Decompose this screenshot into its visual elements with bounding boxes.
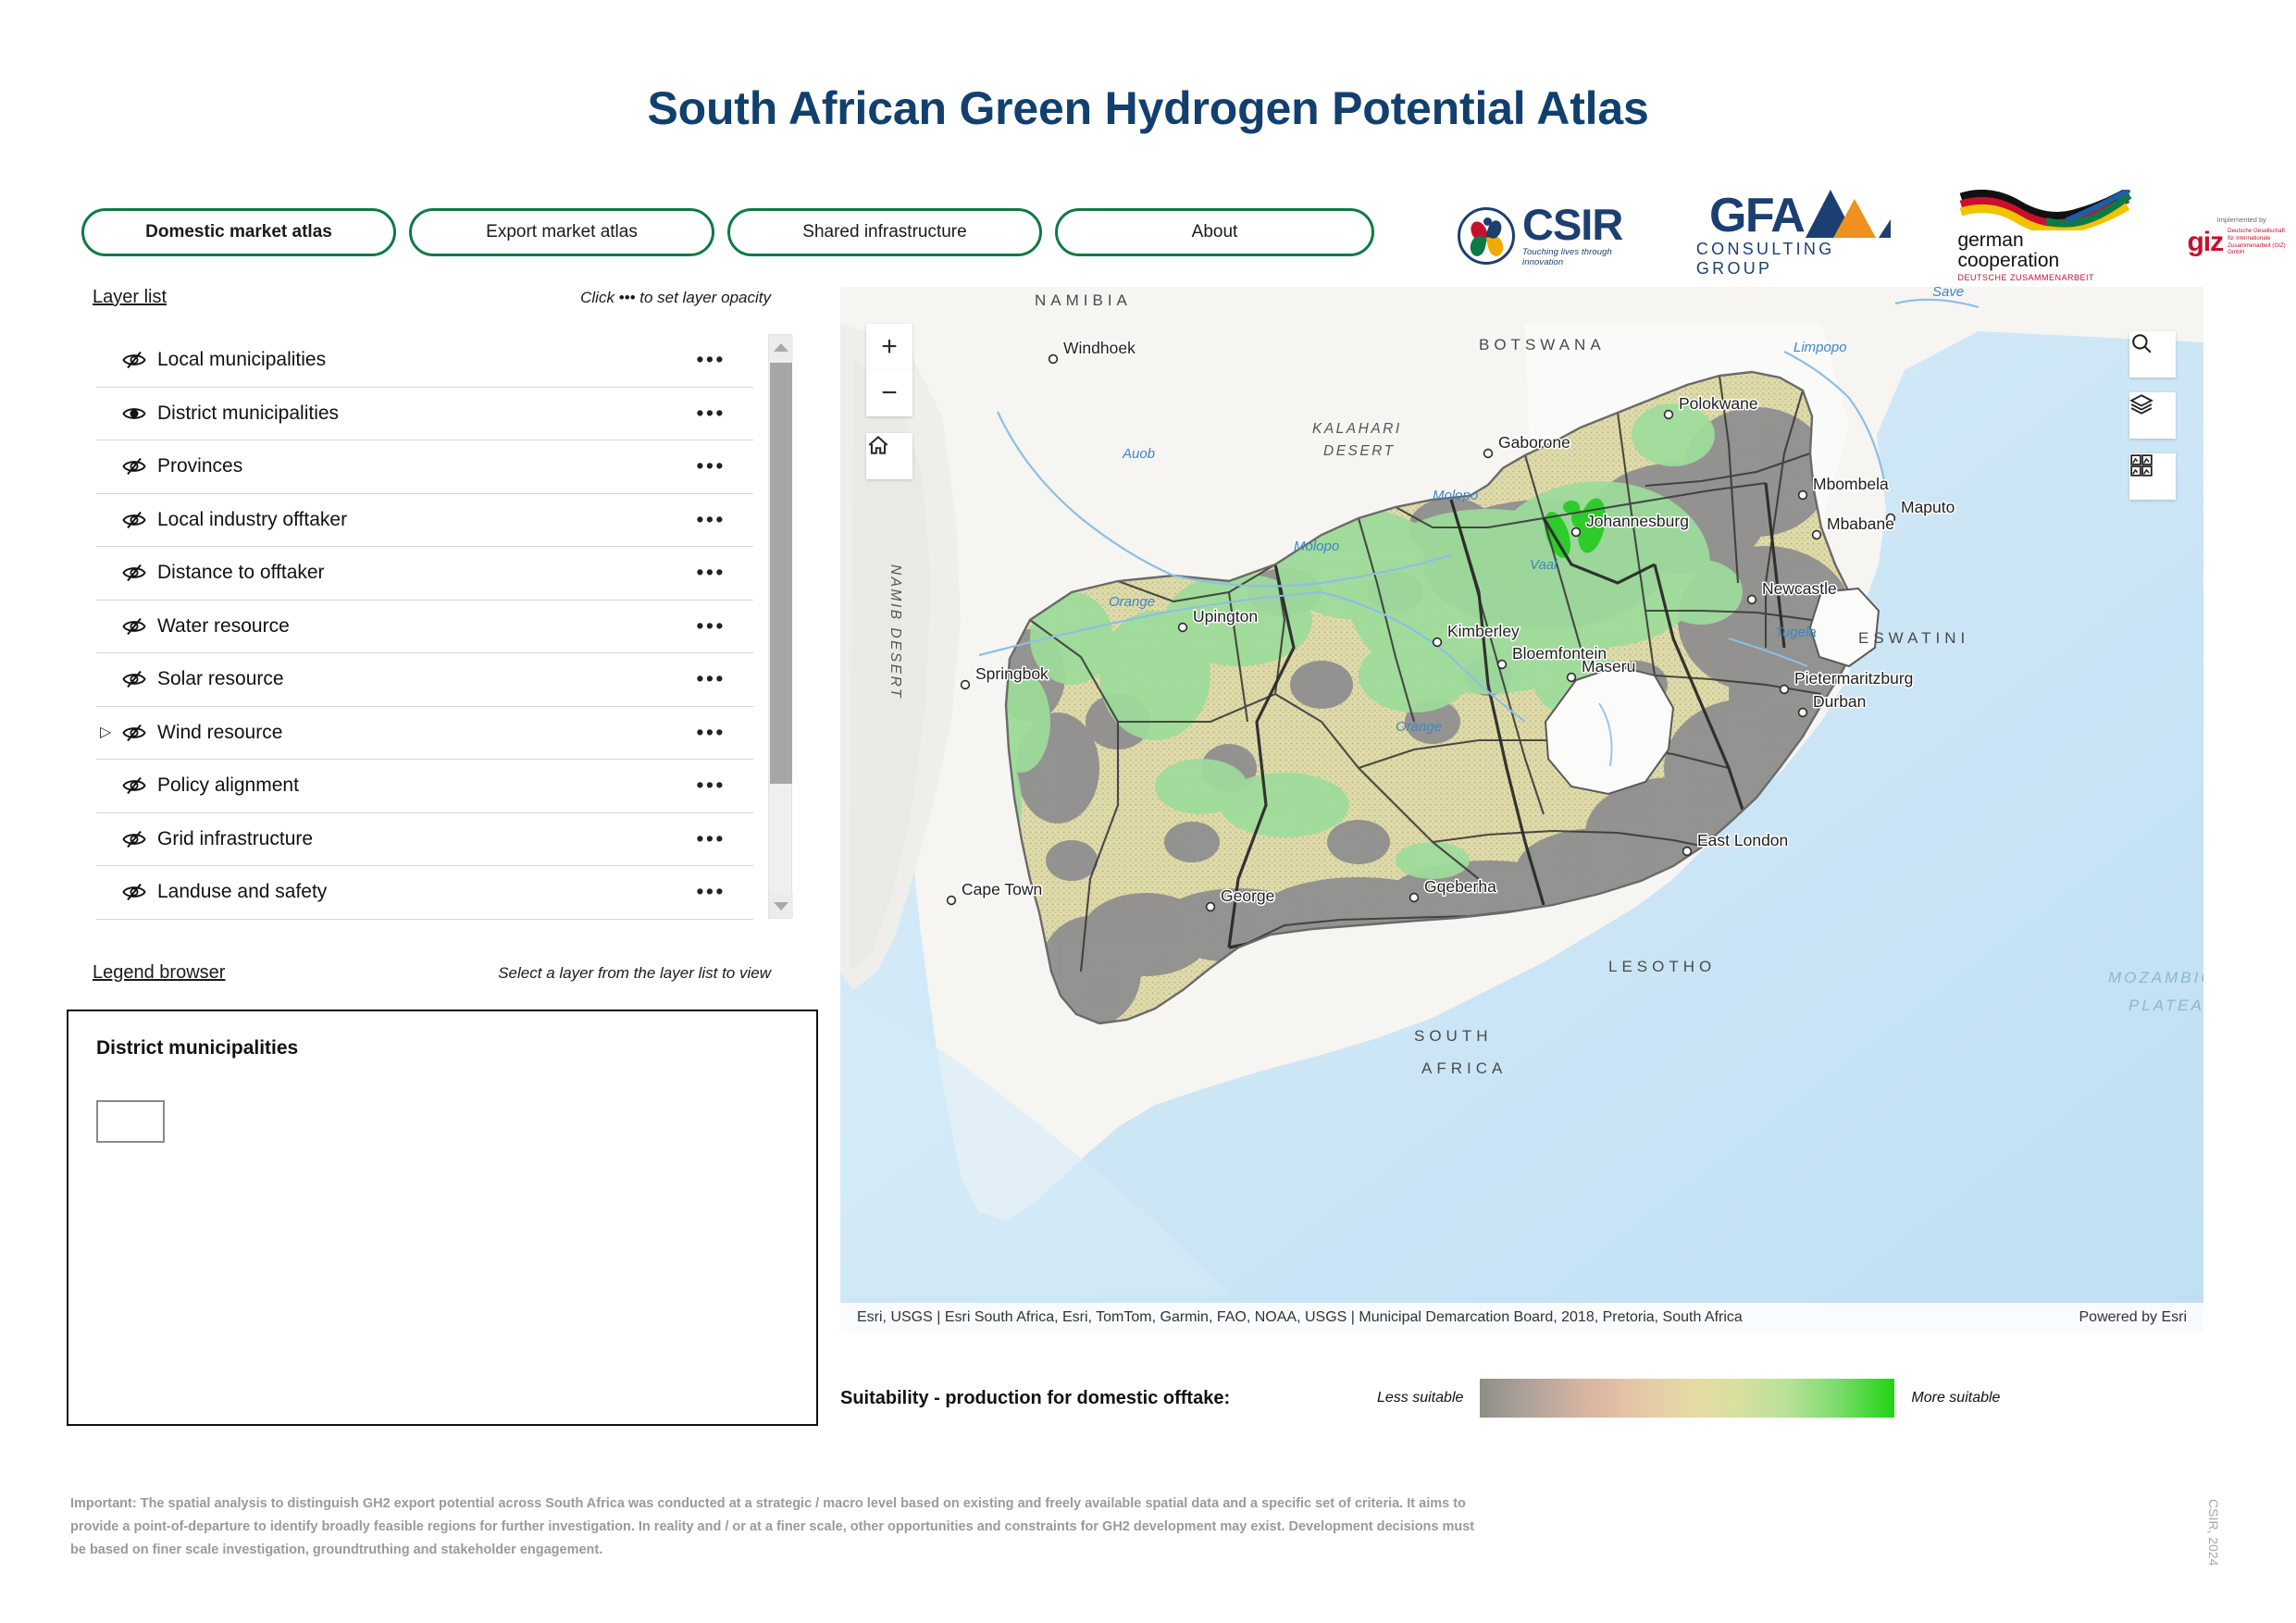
eye-hidden-icon[interactable] <box>122 457 146 476</box>
tab-label: About <box>1192 222 1238 242</box>
city-marker-icon <box>1484 450 1493 458</box>
city-marker-icon <box>1799 491 1807 500</box>
river-label: Save <box>1932 287 1964 300</box>
legend-browser-title: Legend browser <box>93 962 225 984</box>
giz-implemented-by: Implemented by <box>2217 216 2266 224</box>
layer-options-button[interactable]: ••• <box>696 886 726 898</box>
zoom-in-button[interactable]: + <box>866 324 912 370</box>
layer-list-title: Layer list <box>93 287 167 308</box>
city-marker-icon <box>1433 638 1442 647</box>
map-attribution-text: Esri, USGS | Esri South Africa, Esri, To… <box>857 1309 1743 1326</box>
page-title: South African Green Hydrogen Potential A… <box>0 81 2296 135</box>
layer-visibility-toggle[interactable] <box>118 776 150 795</box>
city-marker-icon <box>1781 686 1789 694</box>
left-control-panel: Layer list Click ••• to set layer opacit… <box>0 287 838 1426</box>
layer-options-button[interactable]: ••• <box>696 566 726 579</box>
layer-options-button[interactable]: ••• <box>696 620 726 633</box>
country-label: LESOTHO <box>1608 958 1716 975</box>
map-layers-button[interactable] <box>2129 392 2176 439</box>
zoom-out-button[interactable]: − <box>866 370 912 416</box>
city-label: Gaborone <box>1498 433 1570 452</box>
city-label: Mbabane <box>1827 514 1894 533</box>
country-label: NAMIBIA <box>1035 291 1132 309</box>
powered-by-esri: Powered by Esri <box>2079 1309 2188 1326</box>
city-marker-icon <box>948 897 956 905</box>
basemap-gallery-button[interactable] <box>2129 453 2176 500</box>
layer-options-button[interactable]: ••• <box>696 779 726 792</box>
suitability-more-label: More suitable <box>1911 1390 2000 1406</box>
layer-visibility-toggle[interactable] <box>118 883 150 901</box>
layer-label-distance-to-offtaker: Distance to offtaker <box>157 562 696 584</box>
city-marker-icon <box>1498 661 1507 669</box>
layer-rows: Local municipalities•••District municipa… <box>96 334 753 920</box>
tab-shared-infrastructure[interactable]: Shared infrastructure <box>727 208 1042 256</box>
river-label: Molopo <box>1433 488 1478 503</box>
german-cooperation-line3: DEUTSCHE ZUSAMMENARBEIT <box>1957 273 2094 282</box>
desert-label: DESERT <box>1323 443 1396 459</box>
german-sa-flag-icon <box>1957 190 2133 230</box>
layer-options-button[interactable]: ••• <box>696 514 726 527</box>
layer-options-button[interactable]: ••• <box>696 833 726 846</box>
desert-label: NAMIB DESERT <box>887 564 903 700</box>
tab-about[interactable]: About <box>1055 208 1374 256</box>
layer-label-grid-infrastructure: Grid infrastructure <box>157 828 696 850</box>
map-canvas: NAMIBIABOTSWANASOUTHAFRICALESOTHOESWATIN… <box>840 287 2203 1332</box>
city-label: Cape Town <box>962 880 1042 898</box>
city-label: Maputo <box>1901 498 1955 516</box>
city-marker-icon <box>1799 709 1807 717</box>
layer-row[interactable]: Policy alignment••• <box>96 760 753 813</box>
layer-options-button[interactable]: ••• <box>696 407 726 420</box>
eye-hidden-icon[interactable] <box>122 830 146 849</box>
csir-credit: CSIR, 2024 <box>2206 1499 2221 1566</box>
city-marker-icon <box>1683 848 1692 856</box>
river-label: Molopo <box>1294 539 1339 554</box>
eye-hidden-icon[interactable] <box>122 724 146 742</box>
layer-visibility-toggle[interactable] <box>118 351 150 369</box>
layer-row[interactable]: Water resource••• <box>96 601 753 654</box>
city-label: Mbombela <box>1813 475 1889 493</box>
minus-icon: − <box>881 379 898 407</box>
river-label: Vaal <box>1530 557 1558 573</box>
city-label: Maseru <box>1582 657 1635 675</box>
country-label: AFRICA <box>1421 1059 1507 1077</box>
river-label: Orange <box>1396 719 1442 735</box>
layer-label-provinces: Provinces <box>157 455 696 477</box>
csir-emblem-icon <box>1458 207 1515 265</box>
layer-list-header: Layer list Click ••• to set layer opacit… <box>0 287 838 308</box>
layer-label-landuse-and-safety: Landuse and safety <box>157 881 696 903</box>
giz-fullname: Deutsche Gesellschaft für Internationale… <box>2228 228 2296 256</box>
city-label: Windhoek <box>1063 339 1136 357</box>
ocean-feature-label: MOZAMBIQUE <box>2108 969 2203 986</box>
tab-label: Shared infrastructure <box>802 222 966 242</box>
river-label: Auob <box>1122 446 1155 462</box>
city-marker-icon <box>1410 894 1419 902</box>
eye-visible-icon[interactable] <box>122 404 146 423</box>
giz-logo: Implemented by giz Deutsche Gesellschaft… <box>2187 190 2296 282</box>
eye-hidden-icon[interactable] <box>122 564 146 582</box>
layer-row[interactable]: ▷Wind resource••• <box>96 707 753 761</box>
city-marker-icon <box>962 681 970 689</box>
city-marker-icon <box>1179 624 1187 632</box>
layer-label-policy-alignment: Policy alignment <box>157 774 696 797</box>
layer-row[interactable]: Grid infrastructure••• <box>96 813 753 867</box>
gfa-triangle-icon <box>1806 190 1891 238</box>
country-label: BOTSWANA <box>1479 336 1606 353</box>
city-marker-icon <box>1568 674 1576 682</box>
city-label: Kimberley <box>1447 622 1520 640</box>
layer-visibility-toggle[interactable] <box>118 830 150 849</box>
gfa-wordmark: GFA <box>1709 194 1804 238</box>
eye-hidden-icon[interactable] <box>122 776 146 795</box>
river-label: Tugela <box>1775 625 1817 640</box>
scrollbar-thumb[interactable] <box>770 363 792 784</box>
legend-swatch <box>96 1100 165 1143</box>
layer-list: Local municipalities•••District municipa… <box>96 334 792 920</box>
city-label: Polokwane <box>1679 394 1758 413</box>
home-icon <box>866 433 890 457</box>
scroll-down-arrow-icon[interactable] <box>769 894 793 918</box>
city-label: Johannesburg <box>1586 512 1689 530</box>
ocean-feature-label: PLATEAU <box>2128 997 2203 1014</box>
suitability-legend: Suitability - production for domestic of… <box>840 1379 2203 1418</box>
city-label: Gqeberha <box>1424 877 1496 896</box>
layer-row[interactable]: Landuse and safety••• <box>96 866 753 920</box>
river-label: Limpopo <box>1793 340 1847 355</box>
map-search-button[interactable] <box>2129 331 2176 378</box>
disclaimer-text: Important: The spatial analysis to disti… <box>70 1493 1486 1562</box>
layers-icon <box>2129 392 2153 416</box>
city-marker-icon <box>1207 903 1215 911</box>
layer-label-water-resource: Water resource <box>157 615 696 638</box>
csir-logo: CSIR Touching lives through innovation <box>1458 190 1643 282</box>
country-label: ESWATINI <box>1858 629 1969 647</box>
layer-visibility-toggle[interactable] <box>118 511 150 529</box>
gfa-logo: GFA CONSULTING GROUP <box>1696 190 1905 282</box>
tab-label: Export market atlas <box>486 222 638 242</box>
river-label: Orange <box>1109 594 1155 610</box>
city-label: Pietermaritzburg <box>1794 669 1913 688</box>
city-label: Upington <box>1193 607 1258 626</box>
basemap-gallery-icon <box>2129 453 2153 477</box>
eye-hidden-icon[interactable] <box>122 511 146 529</box>
main-tab-bar: Domestic market atlas Export market atla… <box>81 208 1374 256</box>
city-marker-icon <box>1049 355 1058 364</box>
eye-hidden-icon[interactable] <box>122 617 146 636</box>
german-cooperation-logo: german cooperation DEUTSCHE ZUSAMMENARBE… <box>1957 190 2133 282</box>
layer-visibility-toggle[interactable] <box>118 404 150 423</box>
legend-browser-panel: District municipalities <box>67 1010 818 1426</box>
scroll-up-arrow-icon[interactable] <box>769 335 793 359</box>
suitability-label: Suitability - production for domestic of… <box>840 1388 1377 1409</box>
layer-options-button[interactable]: ••• <box>696 673 726 686</box>
layer-row[interactable]: Local municipalities••• <box>96 334 753 388</box>
csir-wordmark: CSIR <box>1522 204 1643 246</box>
layer-list-scrollbar[interactable] <box>768 334 792 919</box>
city-marker-icon <box>1748 596 1756 604</box>
german-cooperation-line2: cooperation <box>1957 251 2059 271</box>
layer-row[interactable]: Distance to offtaker••• <box>96 547 753 601</box>
plus-icon: + <box>881 333 898 361</box>
expand-caret-icon[interactable]: ▷ <box>100 725 117 740</box>
home-extent-button[interactable] <box>866 433 912 479</box>
layer-label-local-municipalities: Local municipalities <box>157 349 696 371</box>
city-marker-icon <box>1813 531 1821 539</box>
layer-row[interactable]: District municipalities••• <box>96 388 753 441</box>
layer-row[interactable]: Solar resource••• <box>96 653 753 707</box>
giz-wordmark: giz <box>2187 229 2223 254</box>
map-attribution-bar: Esri, USGS | Esri South Africa, Esri, To… <box>840 1303 2203 1332</box>
layer-label-local-industry-offtaker: Local industry offtaker <box>157 509 696 531</box>
layer-visibility-toggle[interactable] <box>118 617 150 636</box>
tab-export-market-atlas[interactable]: Export market atlas <box>409 208 714 256</box>
layer-options-button[interactable]: ••• <box>696 353 726 366</box>
layer-row[interactable]: Local industry offtaker••• <box>96 494 753 548</box>
tab-label: Domestic market atlas <box>145 222 332 242</box>
eye-hidden-icon[interactable] <box>122 883 146 901</box>
layer-label-solar-resource: Solar resource <box>157 668 696 690</box>
legend-active-layer-title: District municipalities <box>96 1037 788 1059</box>
layer-options-button[interactable]: ••• <box>696 726 726 739</box>
gfa-subtitle: CONSULTING GROUP <box>1696 240 1905 279</box>
suitability-less-label: Less suitable <box>1377 1390 1463 1406</box>
tab-domestic-market-atlas[interactable]: Domestic market atlas <box>81 208 396 256</box>
city-label: Newcastle <box>1762 579 1837 598</box>
layer-visibility-toggle[interactable] <box>118 670 150 688</box>
csir-tagline: Touching lives through innovation <box>1522 247 1643 267</box>
city-label: George <box>1221 886 1274 905</box>
city-label: Springbok <box>975 664 1049 683</box>
german-cooperation-line1: german <box>1957 230 2023 251</box>
layer-visibility-toggle[interactable] <box>118 724 150 742</box>
suitability-color-ramp <box>1480 1379 1894 1418</box>
desert-label: KALAHARI <box>1312 421 1402 437</box>
city-marker-icon <box>1572 528 1581 537</box>
city-label: East London <box>1697 831 1788 849</box>
layer-visibility-toggle[interactable] <box>118 457 150 476</box>
layer-label-district-municipalities: District municipalities <box>157 403 696 425</box>
eye-hidden-icon[interactable] <box>122 670 146 688</box>
legend-browser-header: Legend browser Select a layer from the l… <box>0 962 838 984</box>
search-icon <box>2129 331 2153 355</box>
legend-browser-hint: Select a layer from the layer list to vi… <box>498 964 771 983</box>
city-marker-icon <box>1665 411 1673 419</box>
layer-label-wind-resource: Wind resource <box>157 722 696 744</box>
eye-hidden-icon[interactable] <box>122 351 146 369</box>
partner-logo-strip: CSIR Touching lives through innovation G… <box>1458 190 2296 282</box>
map-viewport[interactable]: NAMIBIABOTSWANASOUTHAFRICALESOTHOESWATIN… <box>840 287 2203 1332</box>
layer-visibility-toggle[interactable] <box>118 564 150 582</box>
city-label: Durban <box>1813 692 1866 711</box>
layer-options-button[interactable]: ••• <box>696 460 726 473</box>
layer-opacity-hint: Click ••• to set layer opacity <box>580 289 771 307</box>
layer-row[interactable]: Provinces••• <box>96 440 753 494</box>
country-label: SOUTH <box>1414 1027 1493 1045</box>
